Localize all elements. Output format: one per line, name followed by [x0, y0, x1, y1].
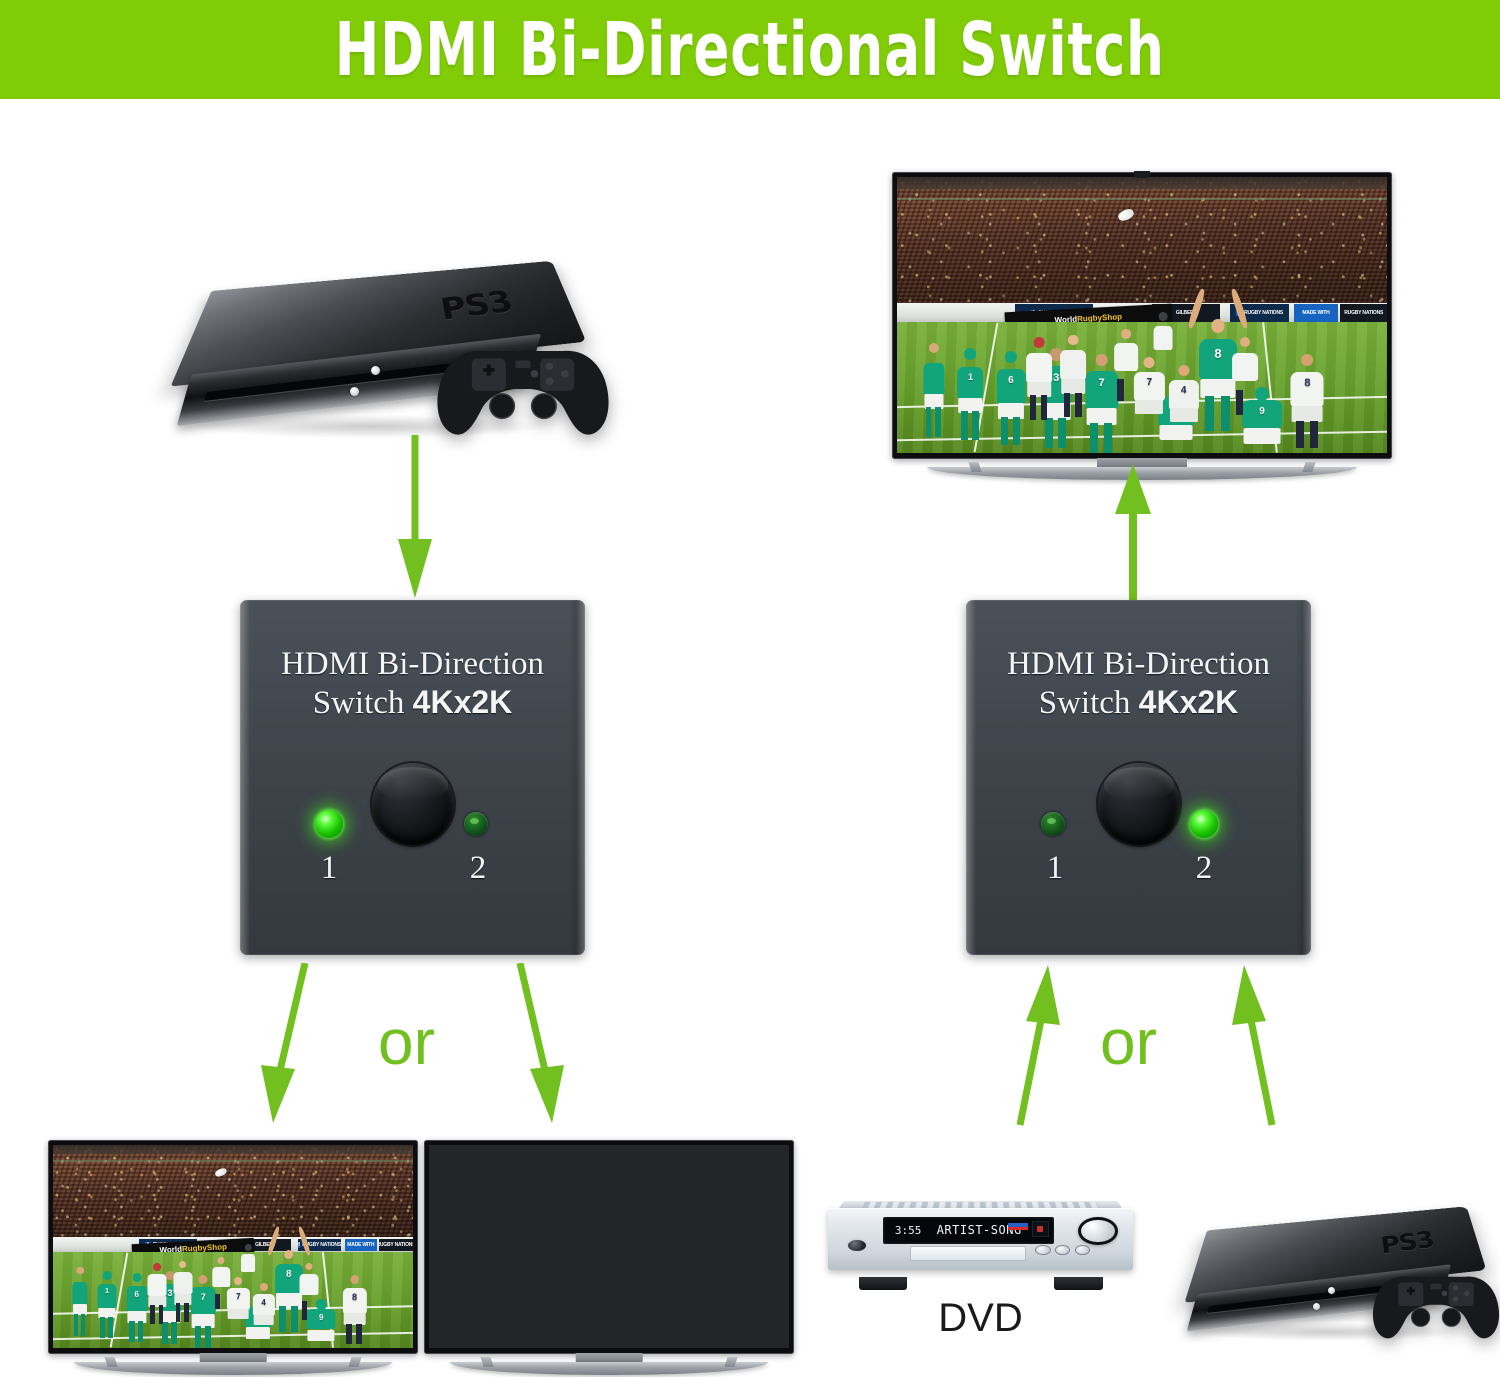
player-leg — [1104, 423, 1112, 453]
ps3-logo: PS3 — [438, 285, 517, 327]
player-shorts — [253, 1315, 274, 1325]
led-indicator-port-2 — [1190, 810, 1218, 838]
player-shorts — [1170, 408, 1198, 422]
switch-label-line2: Switch 4Kx2K — [240, 684, 585, 723]
player-leg — [1001, 417, 1008, 445]
player-head — [260, 1283, 268, 1291]
crowd-speckle — [897, 177, 1387, 307]
tv-bezel — [424, 1140, 794, 1354]
ps3-logo: PS3 — [1379, 1226, 1436, 1259]
player-leg — [1064, 393, 1070, 418]
rugby-game-scene: f RUGBY NATIONS GILBERT f RUGBY NATIONS … — [53, 1145, 413, 1348]
player-leg — [1236, 390, 1243, 415]
player-leg — [1296, 421, 1304, 448]
player-head — [76, 1267, 84, 1275]
switch-label-prefix: Switch — [313, 685, 413, 721]
hoarding-ad-4: MADE WITH — [1294, 304, 1338, 321]
tv-stand-base — [450, 1362, 768, 1375]
player-head — [929, 343, 939, 353]
tv-bezel: f RUGBY NATIONS GILBERT f RUGBY NATIONS … — [892, 172, 1392, 459]
player-leg — [1041, 395, 1047, 420]
headphone-jack[interactable] — [846, 1238, 867, 1253]
player-leg — [138, 1321, 143, 1342]
television-bottom-middle — [424, 1140, 794, 1368]
blank-screen — [429, 1145, 789, 1348]
hoarding-ad-text: MADE WITH — [347, 1242, 374, 1248]
port-label-2: 2 — [1184, 850, 1224, 887]
switch-label-mode: 4Kx2K — [413, 684, 513, 720]
volume-knob[interactable] — [1078, 1217, 1118, 1246]
player-leg — [184, 1303, 189, 1321]
player-head — [1095, 354, 1107, 366]
tv-stand-base — [74, 1362, 392, 1375]
player-leg — [74, 1314, 78, 1336]
ps3-console-bottom-right: PS3 — [1188, 1172, 1493, 1344]
player-head — [245, 1244, 251, 1250]
player-leg — [346, 1324, 352, 1344]
player-number: 8 — [1289, 377, 1326, 389]
stand-edge — [897, 198, 1387, 200]
tv-screen — [429, 1145, 789, 1348]
player-head — [284, 1250, 294, 1260]
switch-label-line2: Switch 4Kx2K — [966, 684, 1311, 723]
dvd-display: 3:55 ARTIST-SONG — [883, 1217, 1054, 1244]
signal-indicator — [1008, 1223, 1028, 1230]
player-leg — [926, 407, 931, 437]
player-leg — [935, 407, 940, 437]
tv-screen: f RUGBY NATIONS GILBERT f RUGBY NATIONS … — [53, 1145, 413, 1348]
player-leg — [129, 1321, 134, 1342]
rugby-game-scene: f RUGBY NATIONS GILBERT f RUGBY NATIONS … — [897, 177, 1387, 453]
player-leg — [1013, 417, 1020, 445]
player-head — [965, 348, 977, 360]
player-white — [147, 1263, 169, 1324]
player-number: 1 — [956, 372, 985, 382]
player-head — [154, 1263, 162, 1271]
dvd-foot-right — [1054, 1277, 1103, 1290]
arrow-console-to-right-switch — [1224, 963, 1294, 1128]
ps3-eject-indicator — [1313, 1303, 1320, 1310]
arrow-dvd-to-right-switch — [1000, 963, 1070, 1128]
led-indicator-port-1 — [315, 810, 343, 838]
player-leg — [1045, 418, 1053, 448]
upper-stand — [53, 1145, 413, 1154]
player-leg — [1058, 418, 1066, 448]
player-white — [1230, 337, 1259, 414]
player-number: 8 — [341, 1292, 368, 1302]
player-shorts — [1244, 428, 1281, 444]
player-shorts — [308, 1330, 335, 1342]
arrow-console-to-left-switch — [395, 435, 435, 605]
tv-stand — [424, 1353, 794, 1377]
player-white — [240, 1244, 256, 1289]
player-jersey — [1153, 326, 1172, 350]
next-button[interactable] — [1075, 1245, 1090, 1255]
port-label-2: 2 — [458, 850, 498, 887]
player-head — [305, 1263, 312, 1270]
player-number: 1 — [96, 1288, 118, 1295]
player-green: 6 — [125, 1273, 148, 1342]
player-leg — [279, 1306, 286, 1332]
player-jersey — [1060, 350, 1086, 380]
left-branch-or-label: or — [378, 1010, 435, 1074]
led-indicator-port-2 — [464, 812, 488, 836]
prev-button[interactable] — [1035, 1245, 1050, 1255]
television-top-right: f RUGBY NATIONS GILBERT f RUGBY NATIONS … — [892, 172, 1392, 477]
player-shorts — [228, 1309, 249, 1319]
player-green: 1 — [96, 1271, 118, 1338]
dvd-caption: DVD — [828, 1296, 1133, 1341]
player-leg — [171, 1322, 177, 1344]
switch-label-line1: HDMI Bi-Direction — [240, 645, 585, 684]
dvd-front-panel: 3:55 ARTIST-SONG — [828, 1208, 1133, 1270]
player-leg — [1117, 379, 1123, 401]
player-white — [1059, 335, 1088, 418]
player-head — [218, 1257, 225, 1264]
player-white: 8 — [1289, 354, 1326, 448]
player-leg — [215, 1294, 220, 1310]
player-white: 8 — [341, 1275, 368, 1344]
player-leg — [162, 1322, 168, 1344]
play-button[interactable] — [1055, 1245, 1070, 1255]
player-jersey — [923, 363, 944, 395]
port-label-1: 1 — [309, 850, 349, 887]
player-head — [1240, 337, 1250, 347]
player-leg — [1310, 421, 1318, 448]
player-white: 4 — [1167, 365, 1201, 442]
switch-label-mode: 4Kx2K — [1139, 684, 1239, 720]
hoarding-ad-text: MADE WITH — [1302, 310, 1329, 316]
left-switch-label: HDMI Bi-Direction Switch 4Kx2K — [240, 645, 585, 723]
player-head — [350, 1275, 359, 1284]
player-number: 4 — [1166, 385, 1200, 396]
diagram-canvas: PS3 — [0, 0, 1500, 1368]
tv-bezel: f RUGBY NATIONS GILBERT f RUGBY NATIONS … — [48, 1140, 418, 1354]
player-green — [922, 343, 947, 437]
player-leg — [159, 1305, 164, 1323]
player-head — [1068, 335, 1079, 346]
tv-stand — [48, 1353, 418, 1377]
player-head — [179, 1261, 187, 1269]
stadium-crowd — [897, 177, 1387, 307]
player-jersey — [241, 1254, 255, 1272]
mode-toggle-knob[interactable] — [372, 763, 454, 845]
player-head — [1302, 354, 1314, 366]
player-leg — [961, 411, 967, 439]
player-shorts — [1135, 400, 1163, 414]
player-white — [298, 1263, 320, 1320]
tv-camera-icon — [1134, 171, 1150, 178]
upper-stand — [897, 177, 1387, 189]
player-green — [71, 1267, 89, 1336]
player-leg — [1030, 395, 1036, 420]
led-indicator-port-1 — [1041, 812, 1065, 836]
level-meter — [1032, 1221, 1049, 1237]
player-jersey — [1026, 353, 1052, 383]
player-white: 4 — [251, 1283, 276, 1340]
player-head — [1178, 365, 1189, 376]
player-head — [1034, 337, 1045, 348]
player-number: 6 — [125, 1290, 148, 1299]
mode-toggle-knob[interactable] — [1098, 763, 1180, 845]
arrow-left-switch-to-tv-b — [500, 963, 570, 1128]
player-jersey — [72, 1282, 87, 1305]
hoarding-ad-text: RUGBY NATIONS — [1244, 310, 1283, 316]
player-head — [1121, 329, 1131, 339]
hoarding-ad-5: RUGBY NATIONS — [1340, 304, 1387, 321]
dvd-foot-left — [859, 1277, 908, 1290]
player-leg — [302, 1301, 307, 1319]
arrow-right-switch-to-tv — [1113, 462, 1153, 612]
switch-label-prefix: Switch — [1039, 685, 1139, 721]
player-head — [199, 1275, 208, 1284]
player-number: 6 — [995, 375, 1027, 386]
switch-label-line1: HDMI Bi-Direction — [966, 645, 1311, 684]
player-head — [1211, 319, 1224, 332]
dvd-time-readout: 3:55 — [895, 1224, 922, 1237]
player-white — [172, 1261, 194, 1322]
player-green: 6 — [995, 351, 1027, 445]
right-switch[interactable]: HDMI Bi-Direction Switch 4Kx2K 1 2 — [966, 600, 1311, 955]
hoarding-ad-4: MADE WITH — [345, 1239, 377, 1252]
player-number: 7 — [226, 1292, 251, 1301]
player-leg — [291, 1306, 298, 1332]
player-number: 4 — [251, 1298, 276, 1307]
player-leg — [176, 1303, 181, 1321]
left-switch[interactable]: HDMI Bi-Direction Switch 4Kx2K 1 2 — [240, 600, 585, 955]
stand-edge — [53, 1160, 413, 1162]
player-green: 1 — [956, 348, 985, 439]
player-leg — [81, 1314, 85, 1336]
right-branch-or-label: or — [1100, 1010, 1157, 1074]
television-bottom-left: f RUGBY NATIONS GILBERT f RUGBY NATIONS … — [48, 1140, 418, 1368]
player-head — [1005, 351, 1017, 363]
hoarding-ad-text: RUGBY NATIONS — [379, 1242, 413, 1248]
player-jersey — [173, 1272, 192, 1294]
player-leg — [972, 411, 978, 439]
player-head — [132, 1273, 141, 1282]
player-leg — [108, 1317, 113, 1338]
player-leg — [356, 1324, 362, 1344]
dvd-player: 3:55 ARTIST-SONG — [828, 1190, 1133, 1290]
hoarding-ad-text: RUGBY NATIONS — [1344, 310, 1383, 316]
port-label-1: 1 — [1035, 850, 1075, 887]
player-leg — [195, 1326, 201, 1348]
player-jersey — [148, 1274, 167, 1296]
hoarding-ad-5: RUGBY NATIONS — [379, 1239, 413, 1252]
ps3-power-indicator — [371, 366, 380, 375]
dualshock-controller — [428, 326, 618, 450]
arrow-left-switch-to-tv-a — [255, 963, 325, 1128]
player-leg — [205, 1326, 211, 1348]
player-leg — [1221, 396, 1231, 431]
player-jersey — [1232, 353, 1258, 381]
player-leg — [100, 1317, 105, 1338]
player-leg — [1205, 396, 1215, 431]
dualshock-controller — [1366, 1258, 1500, 1350]
player-head — [1158, 312, 1167, 321]
ps3-console-top-left: PS3 — [178, 208, 598, 443]
player-leg — [1075, 393, 1081, 418]
player-leg — [150, 1305, 155, 1323]
player-white — [1024, 337, 1053, 420]
player-jersey — [299, 1274, 318, 1294]
player-head — [103, 1271, 112, 1280]
player-leg — [1090, 423, 1098, 453]
tv-screen: f RUGBY NATIONS GILBERT f RUGBY NATIONS … — [897, 177, 1387, 453]
player-white — [1152, 312, 1174, 373]
right-switch-label: HDMI Bi-Direction Switch 4Kx2K — [966, 645, 1311, 723]
disc-tray[interactable] — [910, 1246, 1026, 1261]
player-number: 7 — [1132, 377, 1166, 388]
